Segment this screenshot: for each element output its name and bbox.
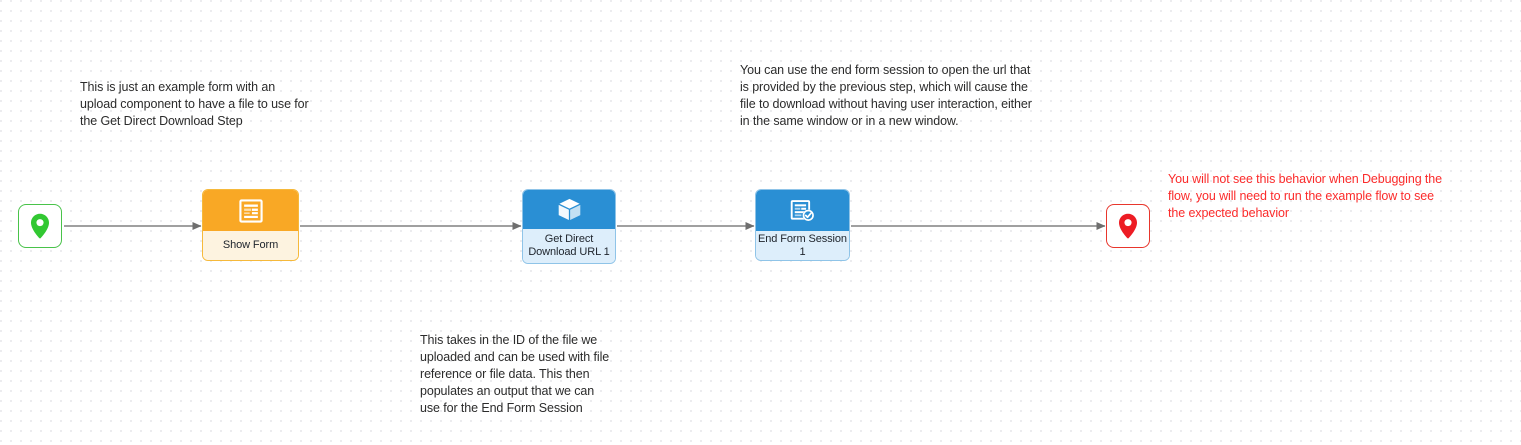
form-icon xyxy=(238,198,264,224)
node-end-form-session[interactable]: End Form Session 1 xyxy=(755,189,850,261)
form-check-icon xyxy=(789,198,816,224)
map-pin-icon xyxy=(1117,213,1139,239)
node-get-direct-download-url-label: Get Direct Download URL 1 xyxy=(528,233,609,259)
annotation-debug-warning-note: You will not see this behavior when Debu… xyxy=(1168,171,1498,222)
node-end-form-session-header xyxy=(756,190,849,231)
node-get-direct-download-url-header xyxy=(523,190,615,229)
flow-canvas[interactable]: Show Form Get Direct Download URL 1 xyxy=(0,0,1521,445)
node-get-direct-download-url-body: Get Direct Download URL 1 xyxy=(523,229,615,263)
node-show-form[interactable]: Show Form xyxy=(202,189,299,261)
map-pin-icon xyxy=(29,213,51,239)
annotation-show-form-note: This is just an example form with an upl… xyxy=(80,79,365,130)
node-show-form-body: Show Form xyxy=(203,231,298,260)
node-get-direct-download-url[interactable]: Get Direct Download URL 1 xyxy=(522,189,616,264)
node-end-form-session-label: End Form Session 1 xyxy=(758,233,847,259)
node-show-form-label: Show Form xyxy=(223,239,278,252)
annotation-get-direct-download-url-note: This takes in the ID of the file we uplo… xyxy=(420,332,650,417)
start-node[interactable] xyxy=(18,204,62,248)
cube-icon xyxy=(556,196,583,223)
end-node[interactable] xyxy=(1106,204,1150,248)
node-end-form-session-body: End Form Session 1 xyxy=(756,231,849,260)
node-show-form-header xyxy=(203,190,298,231)
annotation-end-form-session-note: You can use the end form session to open… xyxy=(740,62,1090,130)
